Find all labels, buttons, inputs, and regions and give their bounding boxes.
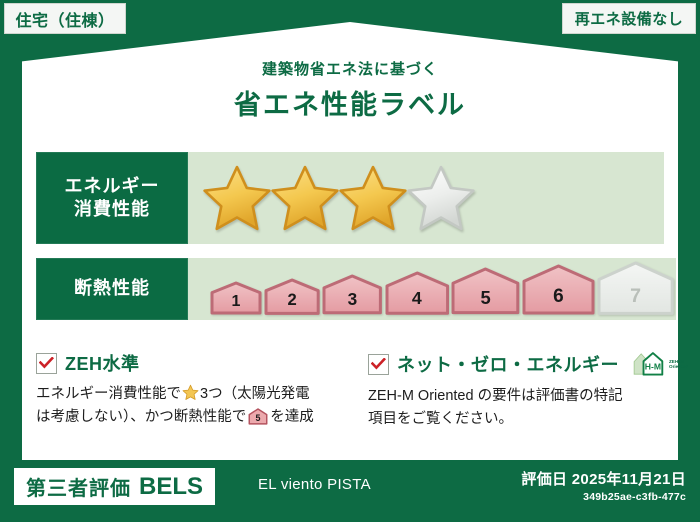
- star-filled-icon: [338, 163, 408, 233]
- info-column-zeh: ZEH水準 エネルギー消費性能で3つ（太陽光発電 は考慮しない）、かつ断熱性能で…: [36, 350, 350, 450]
- badge-building-type-text: 住宅（住棟）: [15, 7, 114, 31]
- insulation-grade-house-3: 3: [322, 274, 382, 315]
- bels-badge: 第三者評価 BELS: [14, 468, 215, 505]
- netzero-checkbox[interactable]: [368, 354, 389, 375]
- insulation-grade-number: 5: [451, 287, 520, 309]
- zeh-description: エネルギー消費性能で3つ（太陽光発電 は考慮しない）、かつ断熱性能で5を達成: [36, 383, 336, 433]
- star-filled-icon: [270, 163, 340, 233]
- zeh-m-caption-line1: ZEH-M: [669, 359, 684, 364]
- insulation-grade-house-6: 6: [522, 264, 595, 315]
- metric-label-insulation: 断熱性能: [36, 258, 188, 320]
- inline-star-icon: [182, 384, 199, 401]
- metric-label-insulation-line1: 断熱性能: [74, 277, 150, 300]
- inline-house-number: 5: [256, 413, 261, 423]
- title-block: 建築物省エネ法に基づく 省エネ性能ラベル: [0, 58, 700, 122]
- inline-house-icon: 5: [248, 408, 268, 425]
- insulation-grade-number: 6: [522, 286, 595, 308]
- check-icon: [39, 357, 54, 369]
- netzero-heading: ネット・ゼロ・エネルギー H-M ZEH-M Oriented: [368, 350, 650, 378]
- insulation-grade-house-7: 7: [597, 261, 674, 315]
- zeh-m-logo-caption: ZEH-M Oriented: [669, 359, 688, 370]
- insulation-grade-house-5: 5: [451, 267, 520, 315]
- metric-row-insulation: 断熱性能 1234567: [36, 258, 664, 320]
- zeh-desc-part2: は考慮しない）、かつ断熱性能で: [36, 409, 246, 425]
- badge-building-type: 住宅（住棟）: [4, 3, 126, 34]
- zeh-desc-part3: を達成: [270, 409, 314, 425]
- label-footer: 第三者評価 BELS EL viento PISTA 評価日 2025年11月2…: [0, 460, 700, 522]
- netzero-title: ネット・ゼロ・エネルギー: [397, 351, 619, 377]
- zeh-desc-stars: 3つ（太陽光発電: [200, 386, 310, 402]
- insulation-grade-scale: 1234567: [188, 258, 676, 320]
- energy-performance-label: 住宅（住棟） 再エネ設備なし 建築物省エネ法に基づく 省エネ性能ラベル エネルギ…: [0, 0, 700, 522]
- svg-text:H-M: H-M: [645, 361, 661, 371]
- info-columns: ZEH水準 エネルギー消費性能で3つ（太陽光発電 は考慮しない）、かつ断熱性能で…: [36, 350, 664, 450]
- info-column-netzero: ネット・ゼロ・エネルギー H-M ZEH-M Oriented ZEH-M Or…: [350, 350, 664, 450]
- insulation-grade-house-4: 4: [385, 271, 450, 315]
- insulation-grade-house-2: 2: [264, 278, 320, 315]
- evaluation-date-value: 2025年11月21日: [572, 471, 686, 488]
- insulation-grade-number: 4: [385, 288, 450, 309]
- insulation-grade-number: 3: [322, 289, 382, 310]
- project-name: EL viento PISTA: [258, 476, 371, 493]
- star-empty-icon: [406, 163, 476, 233]
- insulation-grade-number: 2: [264, 290, 320, 310]
- footer-meta: 評価日 2025年11月21日 349b25ae-c3fb-477c: [521, 468, 686, 503]
- star-filled-icon: [202, 163, 272, 233]
- energy-star-rating: [188, 152, 664, 244]
- metric-label-energy: エネルギー 消費性能: [36, 152, 188, 244]
- insulation-grade-number: 7: [597, 285, 674, 308]
- badge-renewable-status-text: 再エネ設備なし: [575, 8, 684, 29]
- zeh-checkbox[interactable]: [36, 353, 57, 374]
- evaluation-date: 評価日 2025年11月21日: [521, 468, 686, 489]
- netzero-desc-line1: ZEH-M Oriented の要件は評価書の特記: [368, 388, 623, 404]
- title-subtitle: 建築物省エネ法に基づく: [0, 58, 700, 79]
- bels-logo-text: BELS: [139, 473, 203, 501]
- badge-renewable-status: 再エネ設備なし: [562, 3, 696, 34]
- evaluation-date-label: 評価日: [521, 471, 567, 488]
- label-id: 349b25ae-c3fb-477c: [521, 491, 686, 503]
- metric-label-energy-line2: 消費性能: [74, 198, 150, 221]
- check-icon: [371, 358, 386, 370]
- zeh-heading: ZEH水準: [36, 350, 336, 376]
- zeh-title: ZEH水準: [65, 350, 140, 376]
- netzero-description: ZEH-M Oriented の要件は評価書の特記 項目をご覧ください。: [368, 385, 650, 431]
- netzero-desc-line2: 項目をご覧ください。: [368, 411, 513, 427]
- insulation-grade-house-1: 1: [210, 281, 262, 315]
- zeh-desc-part1: エネルギー消費性能で: [36, 386, 181, 402]
- zeh-m-caption-line2: Oriented: [669, 364, 688, 369]
- zeh-m-house-icon: H-M: [631, 350, 667, 378]
- zeh-m-oriented-logo: H-M ZEH-M Oriented: [631, 350, 688, 378]
- insulation-grade-number: 1: [210, 293, 262, 311]
- inline-house-icon-wrap: 5: [248, 413, 268, 429]
- metric-row-energy: エネルギー 消費性能: [36, 152, 664, 244]
- third-party-eval-label: 第三者評価: [26, 472, 131, 501]
- metric-label-energy-line1: エネルギー: [65, 175, 160, 198]
- page-title: 省エネ性能ラベル: [0, 83, 700, 122]
